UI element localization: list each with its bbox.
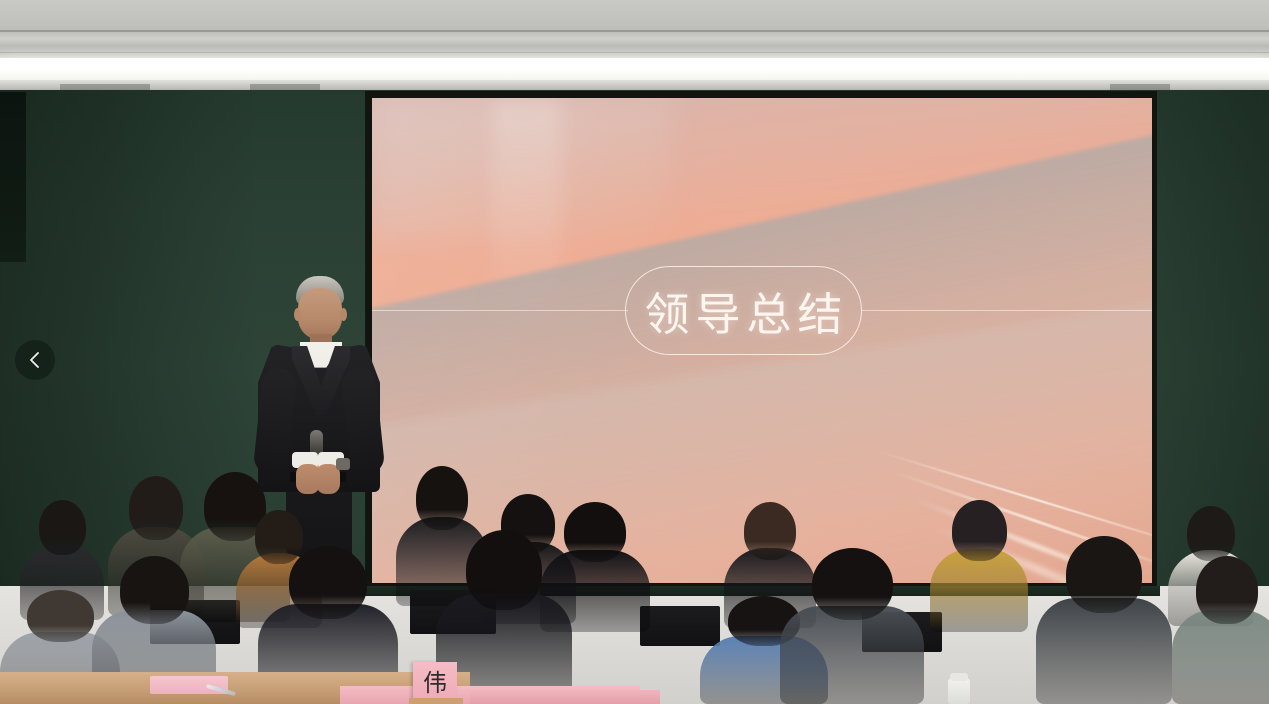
desk-paper xyxy=(150,676,228,694)
audience-head xyxy=(120,556,189,624)
audience-head xyxy=(289,546,367,619)
audience-person xyxy=(1172,556,1269,704)
water-bottle xyxy=(948,678,970,704)
audience-person xyxy=(1036,536,1172,704)
previous-photo-button[interactable] xyxy=(15,340,55,380)
audience-head xyxy=(1066,536,1142,613)
audience xyxy=(0,0,1269,704)
audience-person xyxy=(780,548,924,704)
audience-head xyxy=(812,548,893,620)
audience-head xyxy=(466,530,542,610)
audience-torso xyxy=(780,606,924,704)
audience-head xyxy=(129,476,183,540)
audience-person xyxy=(930,500,1028,632)
audience-head xyxy=(27,590,94,642)
desk-front-panel xyxy=(470,690,660,704)
audience-torso xyxy=(1036,598,1172,704)
audience-torso xyxy=(930,549,1028,632)
name-placard-text: 伟 xyxy=(423,671,447,695)
water-bottle-cap xyxy=(950,673,968,681)
audience-head xyxy=(1187,506,1235,561)
audience-head xyxy=(564,502,626,562)
photo-viewer: 领导总结 伟 xyxy=(0,0,1269,704)
name-placard-base xyxy=(409,698,463,704)
chevron-left-icon xyxy=(28,350,42,370)
audience-head xyxy=(39,500,86,555)
audience-head xyxy=(1196,556,1258,624)
audience-head xyxy=(952,500,1007,561)
audience-head xyxy=(416,466,468,530)
audience-torso xyxy=(1172,610,1269,704)
